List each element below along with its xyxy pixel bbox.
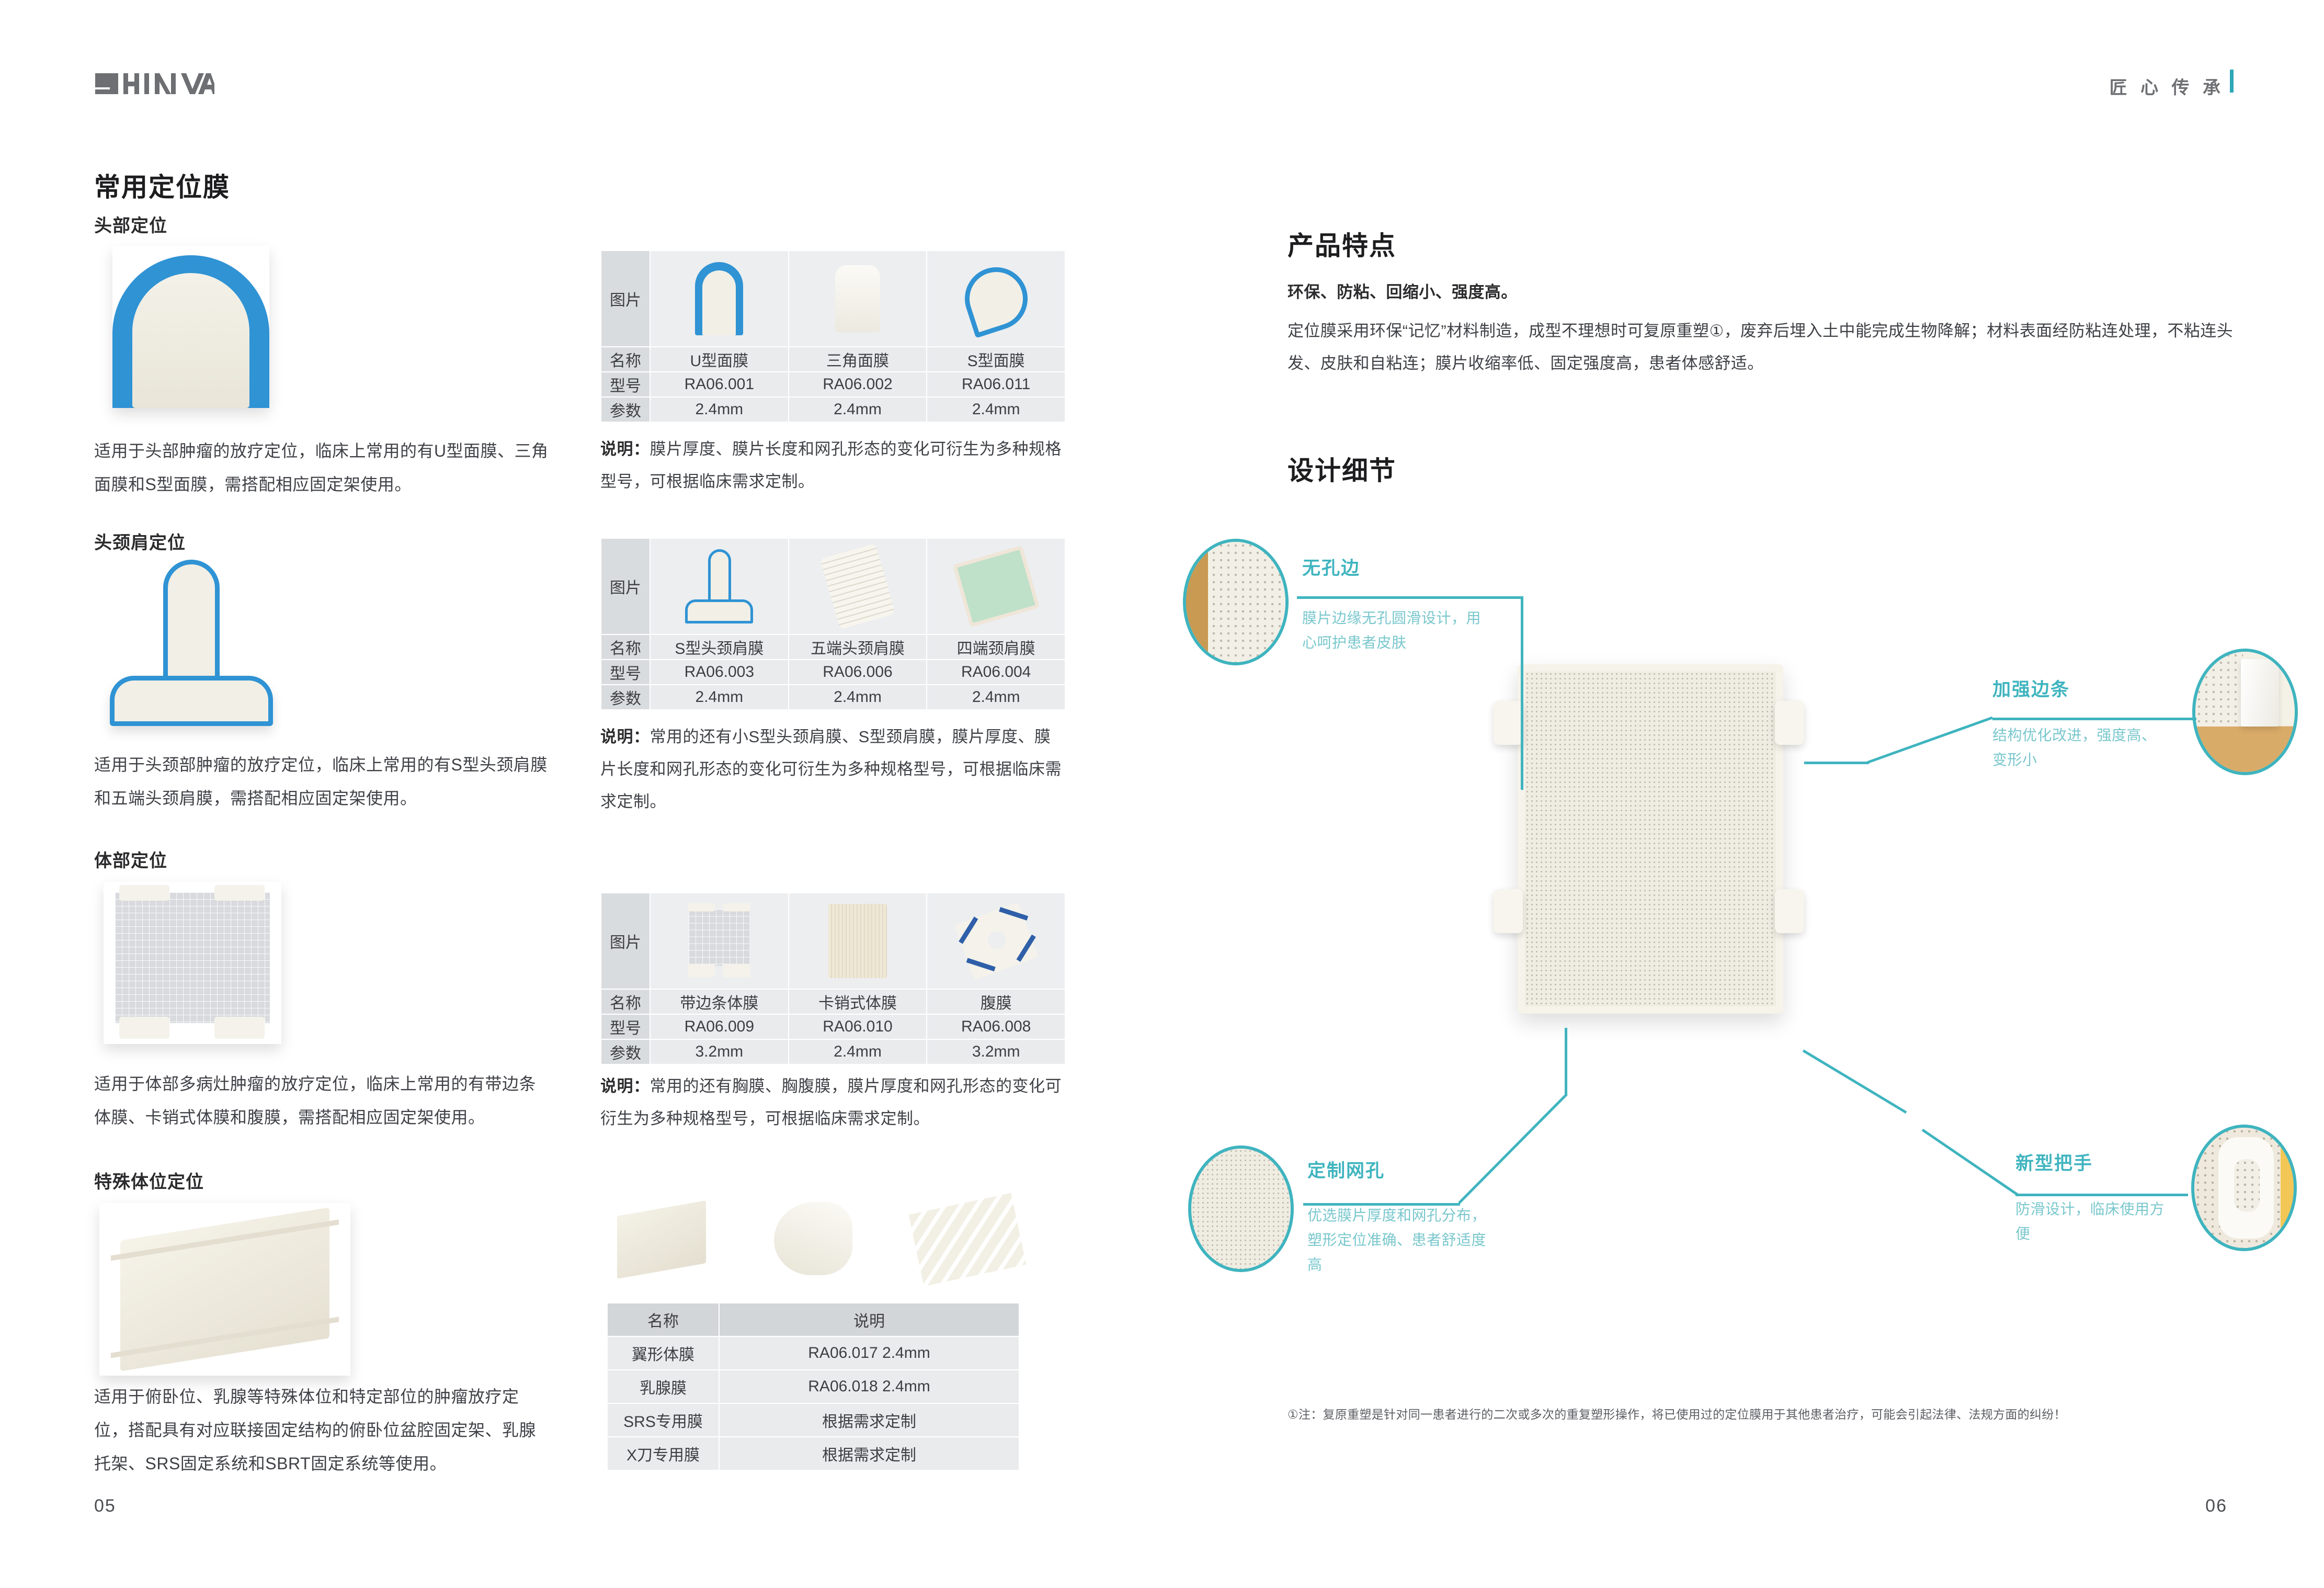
cell-param-0: 3.2mm bbox=[650, 1039, 789, 1064]
cell-param-0: 2.4mm bbox=[650, 685, 789, 710]
section-paragraph-body: 适用于体部多病灶肿瘤的放疗定位，临床上常用的有带边条体膜、卡销式体膜和腹膜，需搭… bbox=[94, 1067, 549, 1134]
features-title: 产品特点 bbox=[1288, 225, 1396, 263]
table-row: 名称 U型面膜 三角面膜 S型面膜 bbox=[601, 347, 1065, 372]
table-row: 参数 3.2mm 2.4mm 3.2mm bbox=[601, 1039, 1065, 1064]
cell-model-2: RA06.008 bbox=[927, 1014, 1065, 1039]
table-row: 型号 RA06.003 RA06.006 RA06.004 bbox=[601, 660, 1065, 685]
leader-line-new-handle-diag bbox=[1921, 1129, 2021, 1198]
cell-image-2 bbox=[927, 251, 1065, 347]
table-row: 乳腺膜 RA06.018 2.4mm bbox=[607, 1370, 1019, 1403]
brochure-spread: 常用定位膜 头部定位 适用于头部肿瘤的放疗定位，临床上常用的有U型面膜、三角面膜… bbox=[0, 0, 2324, 1588]
row-label-model: 型号 bbox=[601, 1014, 650, 1039]
cell-image-0 bbox=[650, 251, 789, 347]
callout-text-custom-mesh: 优选膜片厚度和网孔分布，塑形定位准确、患者舒适度高 bbox=[1307, 1203, 1490, 1277]
note-body: 常用的还有小S型头颈肩膜、S型颈肩膜，膜片厚度、膜片长度和网孔形态的变化可衍生为… bbox=[600, 728, 1062, 811]
handle-tab-right-top bbox=[1775, 701, 1804, 745]
table-row: 名称 S型头颈肩膜 五端头颈肩膜 四端颈肩膜 bbox=[601, 634, 1065, 660]
row-label-param: 参数 bbox=[601, 685, 650, 710]
spec-table-body: 图片 bbox=[600, 892, 1066, 1065]
cell-image-1 bbox=[789, 538, 927, 634]
leader-line-reinforced-strip-tail bbox=[1804, 762, 1869, 764]
tagline-text: 匠 心 传 承 bbox=[2110, 73, 2225, 99]
row-label-image: 图片 bbox=[601, 893, 650, 989]
col-header-name: 名称 bbox=[607, 1303, 719, 1336]
section-heading-head: 头部定位 bbox=[94, 211, 167, 237]
product-photo-u-mask bbox=[112, 246, 269, 408]
callout-title-no-hole-edge: 无孔边 bbox=[1302, 553, 1360, 580]
cell-model-2: RA06.011 bbox=[927, 372, 1065, 397]
leader-line-no-hole-edge-v bbox=[1521, 596, 1523, 790]
row-label-param: 参数 bbox=[601, 1039, 650, 1064]
table-row: 名称 带边条体膜 卡销式体膜 腹膜 bbox=[601, 989, 1065, 1014]
product-photo-row-special bbox=[607, 1187, 1035, 1287]
cell-param-2: 2.4mm bbox=[927, 685, 1065, 710]
table-row: 图片 bbox=[601, 251, 1065, 347]
cell-name: SRS专用膜 bbox=[607, 1403, 719, 1437]
note-body: 膜片厚度、膜片长度和网孔形态的变化可衍生为多种规格型号，可根据临床需求定制。 bbox=[600, 440, 1062, 491]
callout-bubble-no-hole-edge bbox=[1183, 539, 1289, 665]
spec-table-headneck: 图片 名称 S型头颈肩膜 五端头颈肩膜 bbox=[600, 538, 1066, 710]
row-label-image: 图片 bbox=[601, 251, 650, 347]
features-body: 定位膜采用环保“记忆”材料制造，成型不理想时可复原重塑①，废弃后埋入土中能完成生… bbox=[1288, 315, 2234, 380]
cell-image-0 bbox=[650, 893, 789, 989]
cell-name-0: S型头颈肩膜 bbox=[650, 634, 789, 660]
handle-tab-right-bottom bbox=[1775, 889, 1804, 933]
page-title: 常用定位膜 bbox=[94, 166, 230, 204]
section-paragraph-special: 适用于俯卧位、乳腺等特殊体位和特定部位的肿瘤放疗定位，搭配具有对应联接固定结构的… bbox=[94, 1380, 549, 1480]
cell-model-2: RA06.004 bbox=[927, 660, 1065, 685]
callout-title-custom-mesh: 定制网孔 bbox=[1307, 1156, 1385, 1183]
cell-param-1: 2.4mm bbox=[789, 685, 927, 710]
leader-line-custom-mesh-h bbox=[1303, 1203, 1460, 1206]
cell-name: X刀专用膜 bbox=[607, 1437, 719, 1470]
callout-title-new-handle: 新型把手 bbox=[2015, 1149, 2093, 1175]
cell-model-1: RA06.006 bbox=[789, 660, 927, 685]
row-label-image: 图片 bbox=[601, 538, 650, 634]
cell-param-0: 2.4mm bbox=[650, 397, 789, 422]
col-header-desc: 说明 bbox=[719, 1303, 1019, 1336]
table-row: 参数 2.4mm 2.4mm 2.4mm bbox=[601, 397, 1065, 422]
product-photo-body-film bbox=[104, 882, 281, 1044]
cell-desc: RA06.018 2.4mm bbox=[719, 1370, 1019, 1403]
features-lead: 环保、防粘、回缩小、强度高。 bbox=[1288, 276, 2229, 309]
left-page: 常用定位膜 头部定位 适用于头部肿瘤的放疗定位，临床上常用的有U型面膜、三角面膜… bbox=[0, 0, 1162, 1588]
cell-name-2: 四端颈肩膜 bbox=[927, 634, 1065, 660]
cell-name-1: 卡销式体膜 bbox=[789, 989, 927, 1014]
leader-line-custom-mesh-v bbox=[1565, 1028, 1567, 1095]
row-label-name: 名称 bbox=[601, 347, 650, 372]
callout-text-no-hole-edge: 膜片边缘无孔圆滑设计，用心呵护患者皮肤 bbox=[1302, 606, 1490, 655]
product-photo-s-headneck bbox=[105, 560, 277, 727]
row-label-model: 型号 bbox=[601, 372, 650, 397]
note-label: 说明： bbox=[600, 728, 650, 746]
tagline-accent-bar bbox=[2230, 70, 2234, 93]
section-paragraph-head: 适用于头部肿瘤的放疗定位，临床上常用的有U型面膜、三角面膜和S型面膜，需搭配相应… bbox=[94, 434, 549, 501]
note-label: 说明： bbox=[600, 1077, 650, 1095]
main-product-image bbox=[1486, 664, 1810, 1030]
section-heading-headneck: 头颈肩定位 bbox=[94, 528, 186, 554]
table-row: 图片 bbox=[601, 538, 1065, 634]
cell-model-0: RA06.009 bbox=[650, 1014, 789, 1039]
cell-name-0: U型面膜 bbox=[650, 347, 789, 372]
cell-image-2 bbox=[927, 893, 1065, 989]
page-number-right: 06 bbox=[2205, 1496, 2227, 1516]
table-note-body: 说明：常用的还有胸膜、胸腹膜，膜片厚度和网孔形态的变化可衍生为多种规格型号，可根… bbox=[600, 1070, 1066, 1135]
right-page: 匠 心 传 承 产品特点 环保、防粘、回缩小、强度高。 定位膜采用环保“记忆”材… bbox=[1162, 0, 2324, 1588]
footnote: ①注：复原重塑是针对同一患者进行的二次或多次的重复塑形操作，将已使用过的定位膜用… bbox=[1288, 1402, 2250, 1427]
product-photo-special bbox=[99, 1203, 350, 1376]
cell-image-2 bbox=[927, 538, 1065, 634]
cell-name-1: 三角面膜 bbox=[789, 347, 927, 372]
section-paragraph-headneck: 适用于头颈部肿瘤的放疗定位，临床上常用的有S型头颈肩膜和五端头颈肩膜，需搭配相应… bbox=[94, 748, 549, 815]
handle-tab-left-bottom bbox=[1494, 889, 1523, 933]
table-row: 图片 bbox=[601, 893, 1065, 989]
cell-name-0: 带边条体膜 bbox=[650, 989, 789, 1014]
cell-image-0 bbox=[650, 538, 789, 634]
cell-param-1: 2.4mm bbox=[789, 397, 927, 422]
spec-table-head: 图片 名称 U型面 bbox=[600, 250, 1066, 423]
leader-line-no-hole-edge-h bbox=[1297, 596, 1523, 599]
cell-desc: 根据需求定制 bbox=[719, 1403, 1019, 1437]
handle-tab-left-top bbox=[1494, 701, 1523, 745]
leader-line-custom-mesh-diag bbox=[1455, 1091, 1570, 1206]
row-label-model: 型号 bbox=[601, 660, 650, 685]
cell-model-1: RA06.010 bbox=[789, 1014, 927, 1039]
mesh-sheet bbox=[1518, 664, 1783, 1014]
cell-image-1 bbox=[789, 893, 927, 989]
cell-desc: 根据需求定制 bbox=[719, 1437, 1019, 1470]
cell-model-0: RA06.001 bbox=[650, 372, 789, 397]
table-row: 参数 2.4mm 2.4mm 2.4mm bbox=[601, 685, 1065, 710]
cell-param-2: 3.2mm bbox=[927, 1039, 1065, 1064]
cell-name-1: 五端头颈肩膜 bbox=[789, 634, 927, 660]
table-row: SRS专用膜 根据需求定制 bbox=[607, 1403, 1019, 1437]
note-body: 常用的还有胸膜、胸腹膜，膜片厚度和网孔形态的变化可衍生为多种规格型号，可根据临床… bbox=[600, 1077, 1062, 1128]
callout-bubble-reinforced-strip bbox=[2192, 649, 2298, 775]
callout-bubble-new-handle bbox=[2191, 1125, 2297, 1251]
design-title: 设计细节 bbox=[1288, 450, 1396, 487]
callout-text-new-handle: 防滑设计，临床使用方便 bbox=[2015, 1197, 2172, 1246]
table-note-headneck: 说明：常用的还有小S型头颈肩膜、S型颈肩膜，膜片厚度、膜片长度和网孔形态的变化可… bbox=[600, 721, 1066, 818]
callout-text-reinforced-strip: 结构优化改进，强度高、变形小 bbox=[1992, 723, 2165, 772]
row-label-param: 参数 bbox=[601, 397, 650, 422]
table-header-row: 名称 说明 bbox=[607, 1303, 1019, 1336]
leader-line-reinforced-strip-diag bbox=[1867, 717, 1995, 764]
leader-line-new-handle-tail bbox=[1803, 1049, 1907, 1114]
table-row: 翼形体膜 RA06.017 2.4mm bbox=[607, 1336, 1019, 1370]
table-note-head: 说明：膜片厚度、膜片长度和网孔形态的变化可衍生为多种规格型号，可根据临床需求定制… bbox=[600, 433, 1066, 498]
table-row: X刀专用膜 根据需求定制 bbox=[607, 1437, 1019, 1470]
row-label-name: 名称 bbox=[601, 989, 650, 1014]
table-row: 型号 RA06.001 RA06.002 RA06.011 bbox=[601, 372, 1065, 397]
leader-line-reinforced-strip-h bbox=[1992, 718, 2196, 720]
cell-param-1: 2.4mm bbox=[789, 1039, 927, 1064]
page-number-left: 05 bbox=[94, 1496, 116, 1516]
cell-desc: RA06.017 2.4mm bbox=[719, 1336, 1019, 1370]
cell-name-2: S型面膜 bbox=[927, 347, 1065, 372]
simple-table-special: 名称 说明 翼形体膜 RA06.017 2.4mm 乳腺膜 RA06.018 2… bbox=[607, 1302, 1020, 1471]
cell-image-1 bbox=[789, 251, 927, 347]
shinva-logo bbox=[94, 69, 214, 98]
row-label-name: 名称 bbox=[601, 634, 650, 660]
section-heading-special: 特殊体位定位 bbox=[94, 1167, 204, 1193]
leader-line-new-handle-h bbox=[2015, 1194, 2188, 1196]
callout-title-reinforced-strip: 加强边条 bbox=[1992, 675, 2070, 701]
table-row: 型号 RA06.009 RA06.010 RA06.008 bbox=[601, 1014, 1065, 1039]
note-label: 说明： bbox=[600, 440, 650, 458]
section-heading-body: 体部定位 bbox=[94, 846, 167, 872]
callout-bubble-custom-mesh bbox=[1188, 1145, 1294, 1272]
cell-name: 乳腺膜 bbox=[607, 1370, 719, 1403]
cell-name: 翼形体膜 bbox=[607, 1336, 719, 1370]
cell-model-0: RA06.003 bbox=[650, 660, 789, 685]
cell-param-2: 2.4mm bbox=[927, 397, 1065, 422]
cell-name-2: 腹膜 bbox=[927, 989, 1065, 1014]
cell-model-1: RA06.002 bbox=[789, 372, 927, 397]
